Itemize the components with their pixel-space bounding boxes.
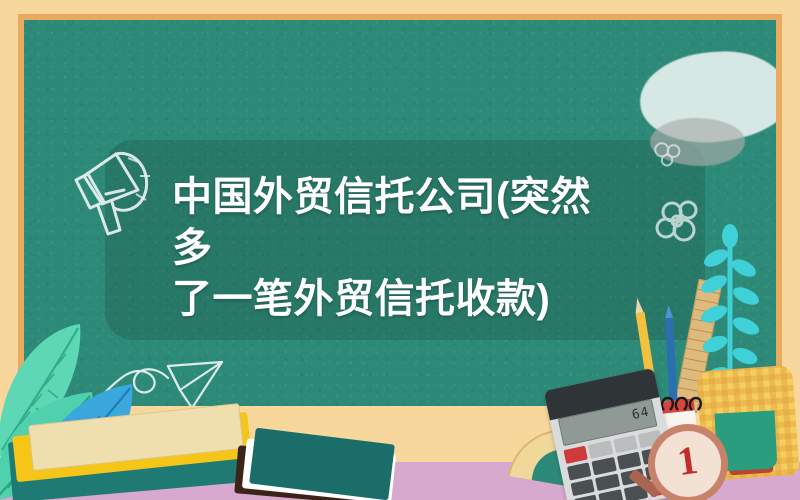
calculator-key[interactable]: [599, 490, 624, 500]
calculator-key[interactable]: [613, 435, 638, 453]
page-title: 中国外贸信托公司(突然多 了一笔外贸信托收款): [172, 172, 592, 326]
page-title-line-2: 了一笔外贸信托收款): [172, 274, 592, 325]
calculator-key[interactable]: [616, 452, 641, 470]
magnified-number: 1: [652, 433, 724, 489]
cover-image-canvas: 中国外贸信托公司(突然多 了一笔外贸信托收款): [0, 0, 800, 500]
calculator-key[interactable]: [574, 495, 599, 500]
calculator-key[interactable]: [588, 440, 613, 458]
page-title-line-1: 中国外贸信托公司(突然多: [172, 172, 592, 274]
calculator-key[interactable]: [592, 457, 617, 475]
calculator-key[interactable]: [595, 473, 620, 491]
calculator-key[interactable]: [570, 478, 595, 496]
calculator-key-ac[interactable]: [563, 446, 588, 464]
chalk-flower-doodle-2: [644, 138, 690, 172]
calculator-key[interactable]: [567, 462, 592, 480]
calculator-display-value: 64: [631, 405, 651, 423]
megaphone-icon: [54, 128, 164, 248]
